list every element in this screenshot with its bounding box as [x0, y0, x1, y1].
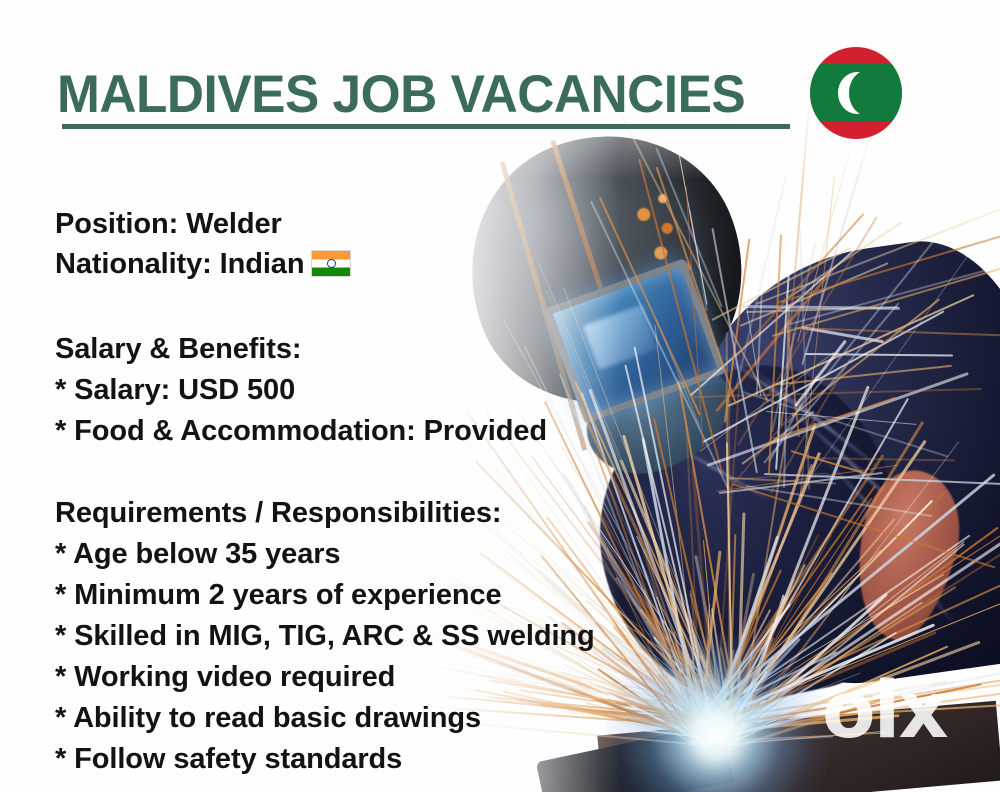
india-flag-icon — [311, 250, 351, 277]
salary-item: * Salary: USD 500 — [55, 374, 295, 407]
requirement-item: * Working video required — [55, 661, 395, 694]
requirement-item: * Ability to read basic drawings — [55, 702, 481, 735]
nationality-label: Nationality: Indian — [55, 248, 304, 280]
position-line: Position: Welder — [55, 208, 282, 241]
job-vacancy-poster: MALDIVES JOB VACANCIES Position: Welder … — [0, 0, 1000, 792]
olx-watermark: olx — [822, 672, 947, 750]
poster-title: MALDIVES JOB VACANCIES — [57, 64, 745, 125]
requirement-item: * Age below 35 years — [55, 538, 340, 571]
nationality-line: Nationality: Indian — [55, 248, 351, 281]
maldives-flag-icon — [810, 47, 902, 139]
requirement-item: * Follow safety standards — [55, 743, 402, 776]
requirement-item: * Skilled in MIG, TIG, ARC & SS welding — [55, 620, 595, 653]
requirements-heading: Requirements / Responsibilities: — [55, 497, 501, 530]
title-underline — [62, 124, 790, 129]
requirement-item: * Minimum 2 years of experience — [55, 579, 502, 612]
salary-heading: Salary & Benefits: — [55, 333, 301, 366]
salary-item: * Food & Accommodation: Provided — [55, 415, 547, 448]
